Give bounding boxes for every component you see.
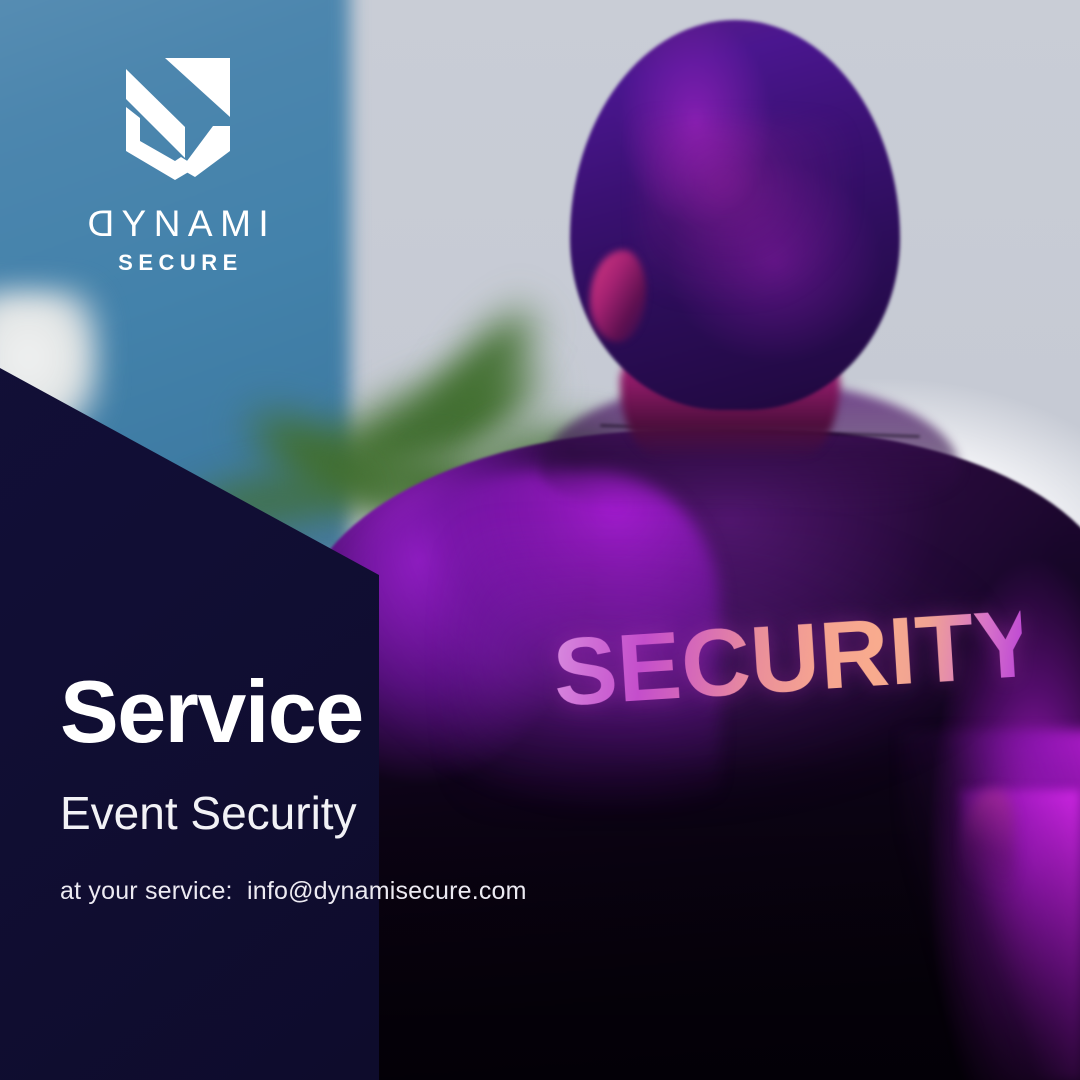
brand-tagline: SECURE — [83, 252, 273, 274]
contact-line[interactable]: at your service: info@dynamisecure.com — [60, 879, 527, 904]
guard-hair-highlight — [640, 120, 850, 300]
shield-s-monogram-icon — [123, 55, 233, 183]
brand-logo-block[interactable]: DYNAMI SECURE — [83, 55, 273, 274]
brand-wordmark: DYNAMI — [83, 205, 273, 242]
brand-wordmark-initial: D — [80, 205, 114, 242]
brand-wordmark-rest: YNAMI — [122, 205, 277, 242]
headline: Service — [60, 668, 363, 756]
subheadline: Event Security — [60, 790, 357, 836]
poster-canvas: SECURITY DYNAMI SECURE Service Event Sec… — [0, 0, 1080, 1080]
